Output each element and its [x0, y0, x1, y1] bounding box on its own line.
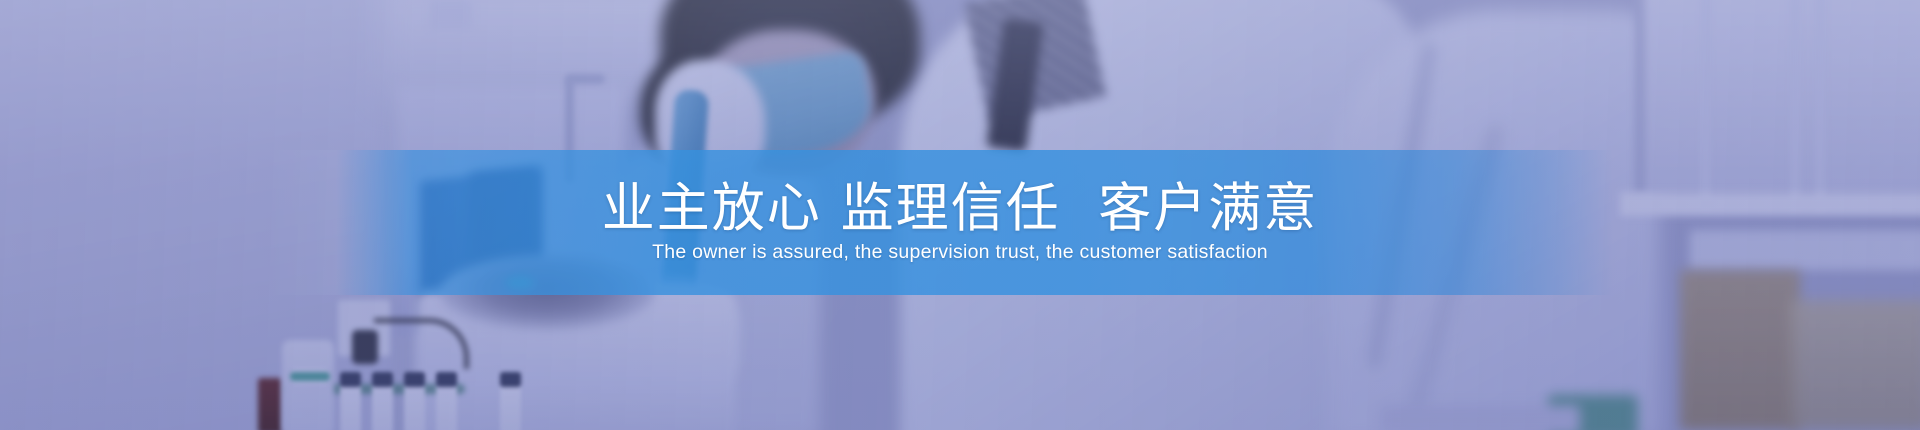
banner-headline: 业主放心 监理信任 客户满意	[602, 181, 1319, 237]
banner-text-block: 业主放心 监理信任 客户满意 The owner is assured, the…	[0, 150, 1920, 295]
banner-subheadline: The owner is assured, the supervision tr…	[652, 241, 1268, 264]
hero-banner: 业主放心 监理信任 客户满意 The owner is assured, the…	[0, 0, 1920, 430]
